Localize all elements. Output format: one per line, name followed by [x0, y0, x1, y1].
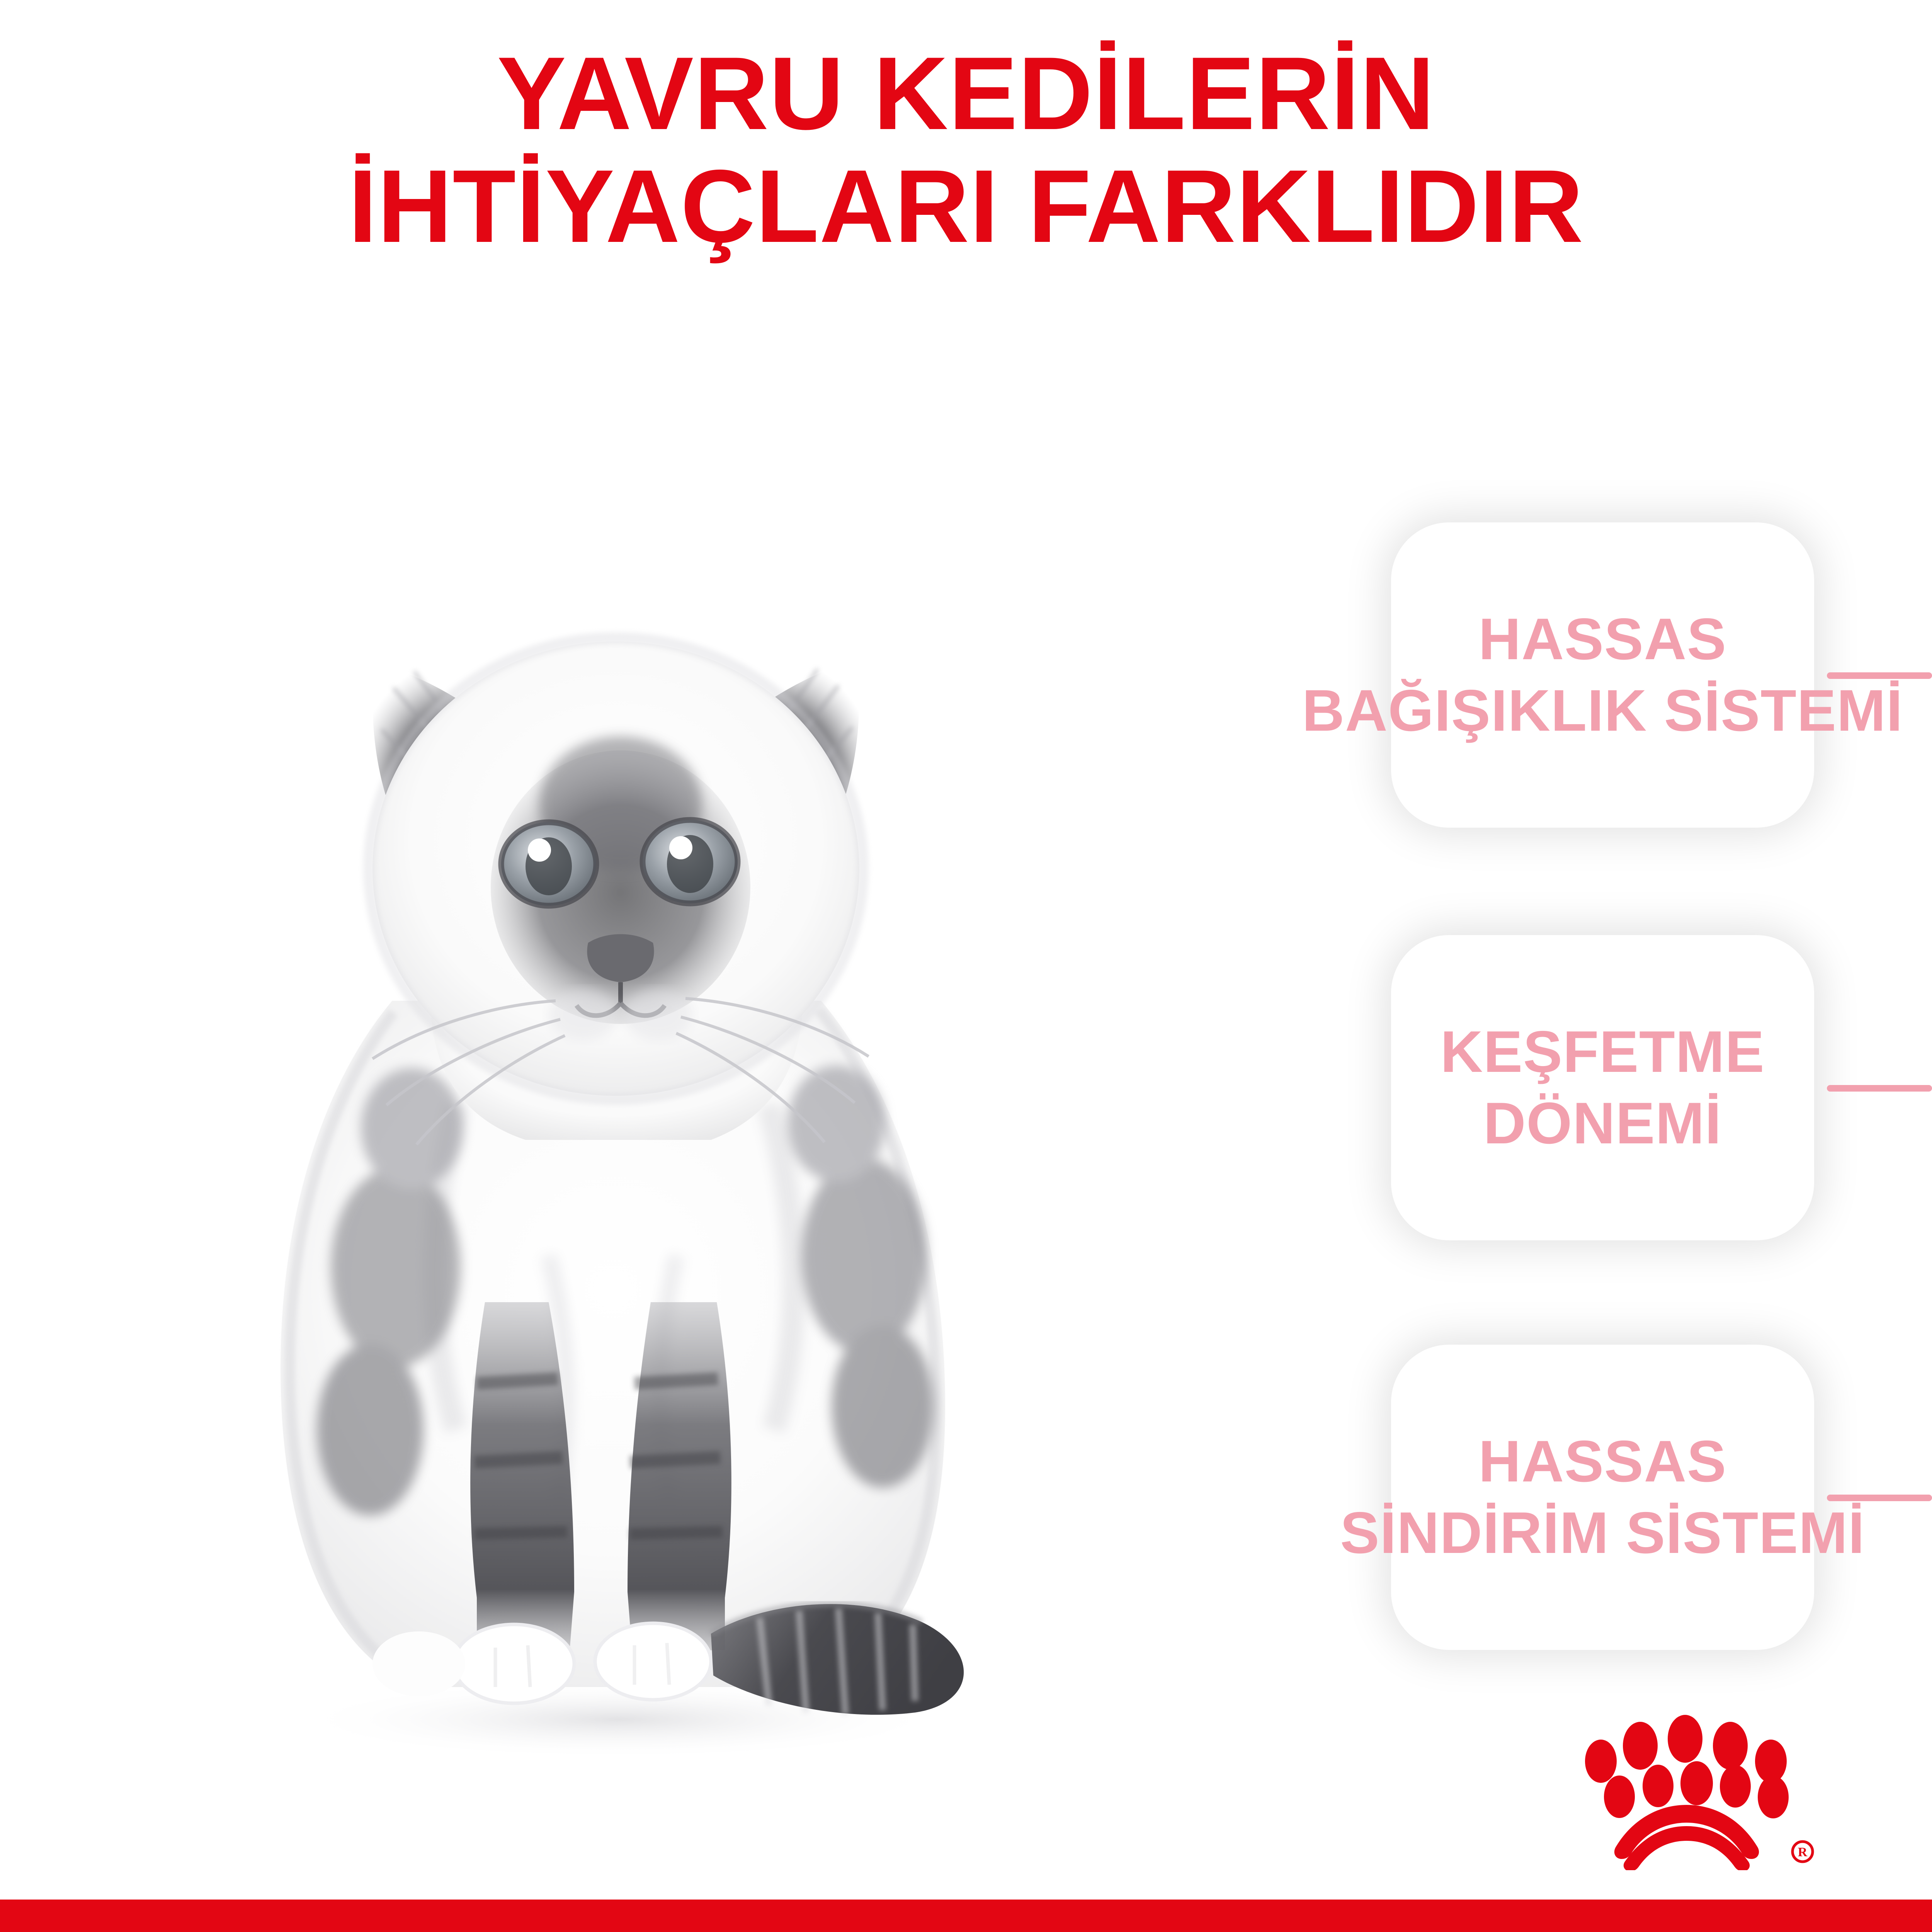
headline-line-1: YAVRU KEDİLERİN — [0, 37, 1932, 150]
kitten-hero-image — [166, 456, 1036, 1789]
feature-card-label: HASSAS SİNDİRİM SİSTEMİ — [1313, 1426, 1892, 1569]
connector-line-3 — [1827, 1495, 1932, 1501]
connector-line-2 — [1827, 1085, 1932, 1092]
page-title: YAVRU KEDİLERİN İHTİYAÇLARI FARKLIDIR — [0, 37, 1932, 262]
footer-red-bar — [0, 1900, 1932, 1932]
feature-card-discovery-period[interactable]: KEŞFETME DÖNEMİ — [1391, 935, 1814, 1240]
feature-card-line-2: DÖNEMİ — [1440, 1088, 1765, 1159]
feature-card-sensitive-immune-system[interactable]: HASSAS BAĞIŞIKLIK SİSTEMİ — [1391, 522, 1814, 828]
feature-card-line-2: BAĞIŞIKLIK SİSTEMİ — [1302, 675, 1903, 747]
feature-card-line-1: HASSAS — [1302, 604, 1903, 675]
headline-line-2: İHTİYAÇLARI FARKLIDIR — [0, 150, 1932, 262]
svg-text:R: R — [1798, 1845, 1808, 1859]
feature-card-label: KEŞFETME DÖNEMİ — [1413, 1016, 1792, 1160]
feature-card-line-1: HASSAS — [1340, 1426, 1865, 1497]
feature-card-sensitive-digestive-system[interactable]: HASSAS SİNDİRİM SİSTEMİ — [1391, 1345, 1814, 1650]
connector-line-1 — [1827, 672, 1932, 679]
feature-card-line-1: KEŞFETME — [1440, 1016, 1765, 1088]
royal-canin-paw-crown-logo-icon: R — [1574, 1704, 1829, 1870]
feature-card-line-2: SİNDİRİM SİSTEMİ — [1340, 1497, 1865, 1569]
